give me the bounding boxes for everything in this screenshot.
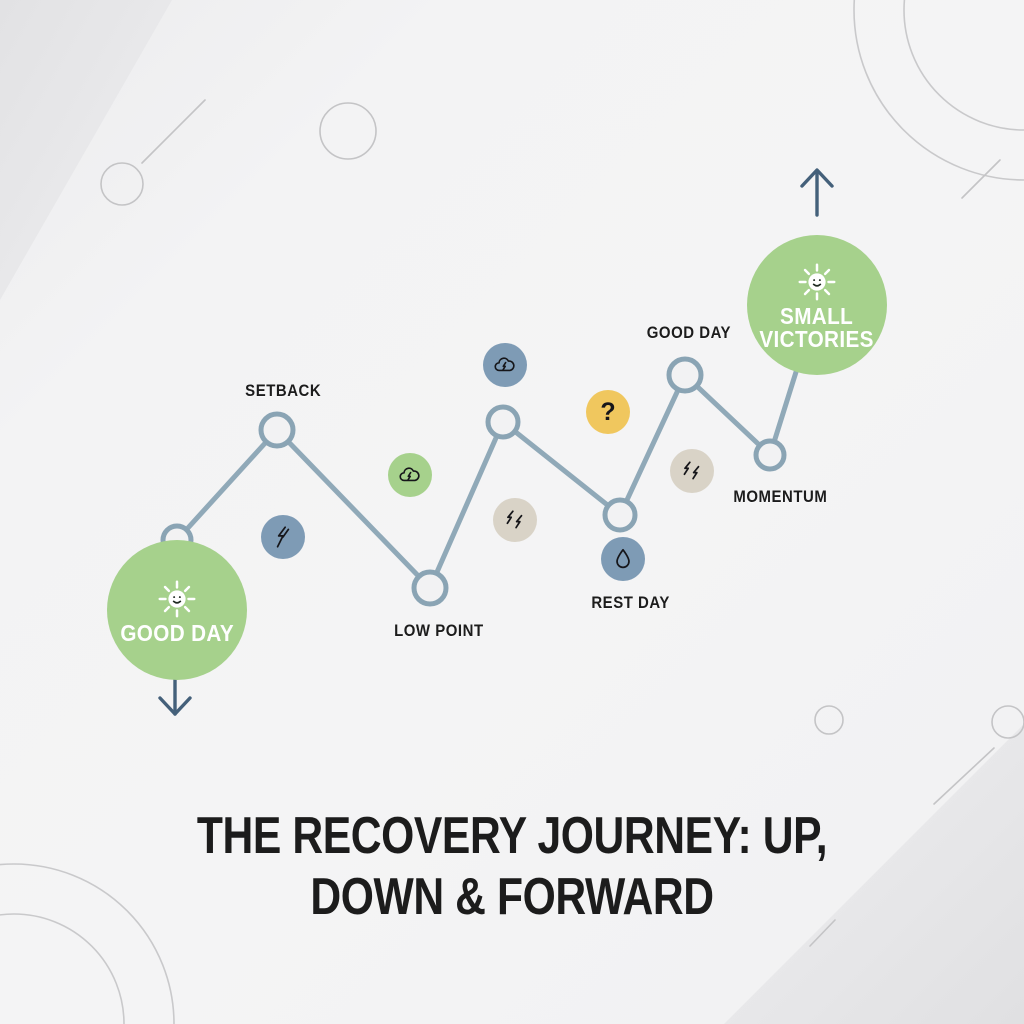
droplet-chip-blue[interactable]: [601, 537, 645, 581]
label-low-point: LOW POINT: [394, 621, 484, 641]
double-lightning-chip-beige-left[interactable]: [493, 498, 537, 542]
node-rest-day: [605, 500, 635, 530]
lightning-icon: [270, 524, 296, 550]
node-rise: [488, 407, 518, 437]
label-momentum: MOMENTUM: [733, 487, 827, 507]
question-icon: ?: [600, 400, 615, 425]
storm-cloud-icon: [397, 462, 423, 488]
small-victories-bubble[interactable]: SMALL VICTORIES: [747, 235, 887, 375]
infographic-canvas: GOOD DAY SMALL VICTORIES: [0, 0, 1024, 1024]
lightning-chip-blue[interactable]: [261, 515, 305, 559]
label-good-day: GOOD DAY: [647, 323, 731, 343]
small-victories-bubble-label: SMALL VICTORIES: [760, 305, 874, 351]
droplet-icon: [610, 546, 636, 572]
storm-cloud-icon: [492, 352, 518, 378]
page-title-line-2: DOWN & FORWARD: [92, 867, 932, 928]
label-rest-day: REST DAY: [591, 593, 669, 613]
page-title: THE RECOVERY JOURNEY: UP, DOWN & FORWARD: [0, 806, 1024, 929]
good-day-bubble-line1: GOOD DAY: [120, 620, 234, 646]
storm-cloud-chip-blue[interactable]: [483, 343, 527, 387]
good-day-bubble-label: GOOD DAY: [120, 622, 234, 645]
small-victories-line2: VICTORIES: [760, 328, 874, 351]
question-chip-yellow[interactable]: ?: [586, 390, 630, 434]
double-lightning-icon: [679, 458, 705, 484]
double-lightning-chip-beige-right[interactable]: [670, 449, 714, 493]
good-day-bubble[interactable]: GOOD DAY: [107, 540, 247, 680]
up-arrow-icon: [802, 170, 832, 215]
storm-cloud-chip-green[interactable]: [388, 453, 432, 497]
label-setback: SETBACK: [245, 381, 321, 401]
page-title-line-1: THE RECOVERY JOURNEY: UP,: [92, 806, 932, 867]
node-low-point: [414, 572, 446, 604]
node-setback: [261, 414, 293, 446]
sun-smile-icon: [154, 576, 200, 622]
node-momentum: [756, 441, 784, 469]
node-good-day: [669, 359, 701, 391]
sun-smile-icon: [794, 259, 840, 305]
double-lightning-icon: [502, 507, 528, 533]
